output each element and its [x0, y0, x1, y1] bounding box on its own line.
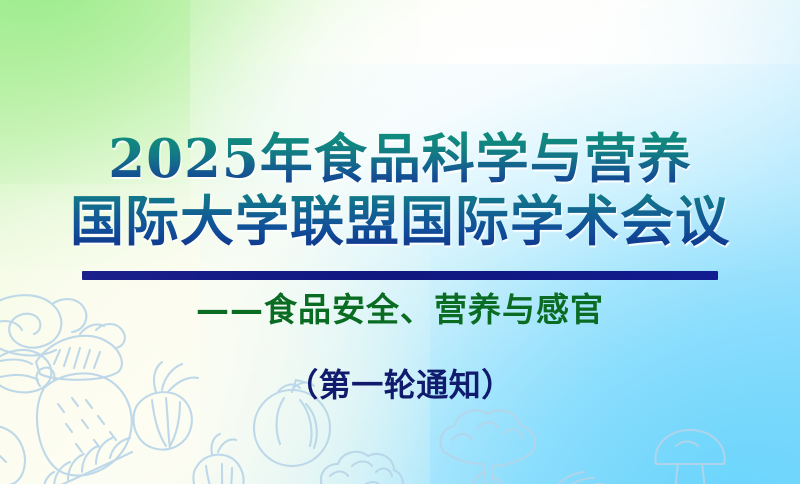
conference-poster: 2025年食品科学与营养 国际大学联盟国际学术会议 ——食品安全、营养与感官 （… — [0, 0, 800, 484]
title-line-2: 国际大学联盟国际学术会议 — [0, 190, 800, 252]
title-divider-rule — [82, 271, 718, 280]
main-title: 2025年食品科学与营养 国际大学联盟国际学术会议 — [0, 128, 800, 252]
poster-notice-round: （第一轮通知） — [0, 362, 800, 408]
title-line-1: 2025年食品科学与营养 — [0, 128, 800, 190]
poster-subtitle: ——食品安全、营养与感官 — [0, 286, 800, 334]
poster-content: 2025年食品科学与营养 国际大学联盟国际学术会议 ——食品安全、营养与感官 （… — [0, 0, 800, 484]
